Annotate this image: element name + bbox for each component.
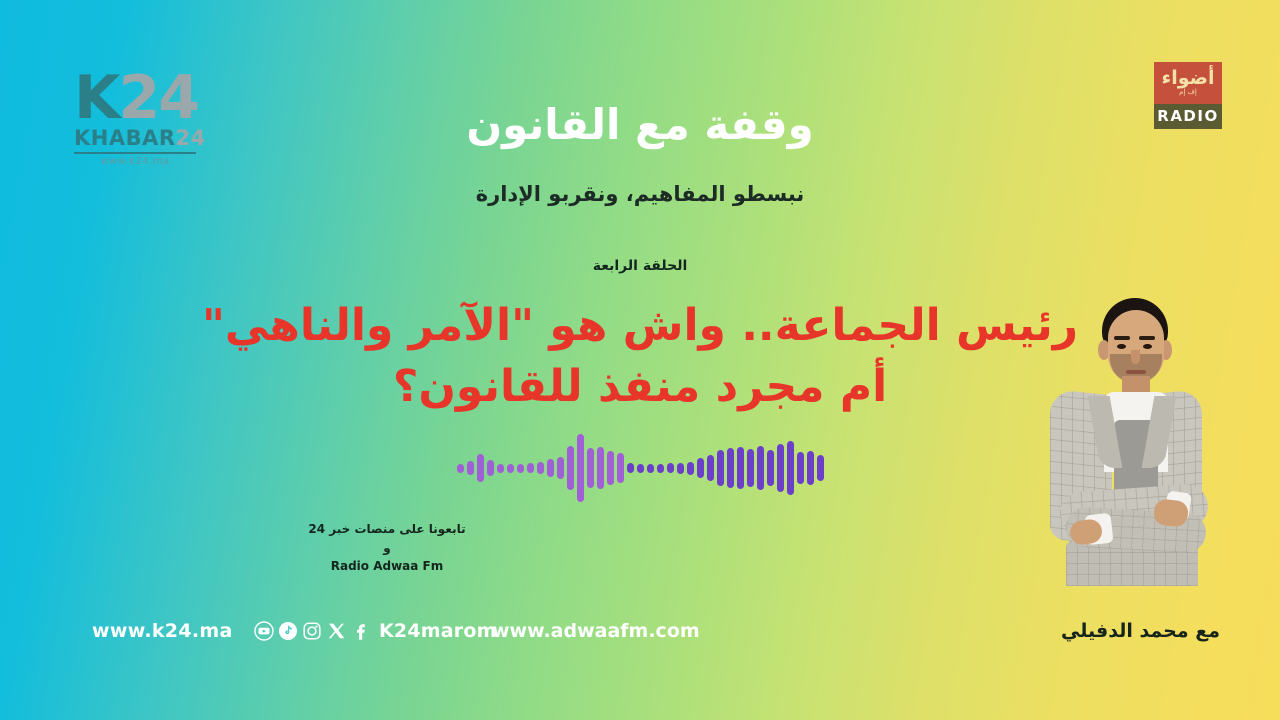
presenter-nose [1131, 350, 1140, 364]
waveform-bar [457, 464, 464, 473]
waveform-bar [547, 459, 554, 477]
waveform-bar [697, 458, 704, 478]
adwaafm-website-url[interactable]: www.adwaafm.com [492, 614, 700, 648]
waveform-bar [807, 451, 814, 485]
waveform-bar [657, 464, 664, 473]
show-tagline: نبسطو المفاهيم، ونقربو الإدارة [0, 182, 1280, 206]
waveform-bar [517, 464, 524, 473]
waveform-bar [757, 446, 764, 490]
waveform-bar [627, 463, 634, 473]
waveform-bar [737, 447, 744, 489]
k24-logo-url: www.k24.ma [74, 156, 196, 167]
instagram-icon[interactable] [302, 621, 322, 641]
waveform-bar [487, 460, 494, 476]
social-links-group: K24marom [254, 614, 497, 648]
waveform-bar [647, 464, 654, 473]
youtube-icon[interactable] [254, 621, 274, 641]
waveform-bar [667, 463, 674, 473]
waveform-bar [587, 448, 594, 488]
waveform-bar [677, 463, 684, 474]
presenter-hand-left [1153, 498, 1190, 527]
presenter-mouth [1126, 370, 1146, 374]
adwaa-logo-box: أضواء إف إم [1154, 62, 1222, 104]
waveform-bar [477, 454, 484, 482]
waveform-bar [617, 453, 624, 483]
presenter-eye-left [1117, 344, 1126, 349]
waveform-bar [507, 464, 514, 473]
waveform-bar [817, 455, 824, 481]
presenter-eye-right [1143, 344, 1152, 349]
adwaa-arabic-subtitle: إف إم [1179, 88, 1197, 96]
waveform-bar [607, 451, 614, 485]
waveform-bar [527, 463, 534, 473]
waveform-bar [467, 461, 474, 475]
waveform-bar [777, 444, 784, 492]
waveform-bar [557, 457, 564, 479]
waveform-bar [767, 450, 774, 486]
tiktok-icon[interactable] [278, 621, 298, 641]
x-icon[interactable] [326, 621, 346, 641]
follow-us-block: تابعونا على منصات خبر 24 و Radio Adwaa F… [292, 520, 482, 576]
follow-line-3: Radio Adwaa Fm [292, 557, 482, 576]
waveform-bar [597, 447, 604, 489]
host-name: مع محمد الدفيلي [1061, 614, 1220, 648]
k24-website-url[interactable]: www.k24.ma [92, 614, 233, 648]
waveform-bar [727, 448, 734, 488]
presenter-eyebrow-right [1139, 336, 1155, 340]
presenter-eyebrow-left [1114, 336, 1130, 340]
waveform-bar [567, 446, 574, 490]
waveform-bar [497, 464, 504, 473]
waveform-bar [747, 449, 754, 487]
social-handle[interactable]: K24marom [379, 620, 497, 642]
broadcast-graphic: K24 KHABAR24 www.k24.ma أضواء إف إم RADI… [0, 0, 1280, 720]
waveform-bar [707, 455, 714, 481]
waveform-bar [577, 434, 584, 502]
waveform-bar [717, 450, 724, 486]
waveform-bar [537, 462, 544, 474]
footer-bar: www.k24.ma [0, 614, 1280, 648]
waveform-bar [637, 464, 644, 473]
follow-line-1: تابعونا على منصات خبر 24 [292, 520, 482, 539]
waveform-bar [687, 462, 694, 475]
waveform-bar [787, 441, 794, 495]
waveform-bar [797, 452, 804, 484]
facebook-icon[interactable] [350, 621, 370, 641]
episode-label: الحلقة الرابعة [0, 258, 1280, 274]
show-title: وقفة مع القانون [0, 100, 1280, 149]
presenter-photo [1026, 292, 1236, 592]
follow-line-2: و [292, 539, 482, 558]
adwaa-arabic-name: أضواء [1161, 69, 1214, 88]
